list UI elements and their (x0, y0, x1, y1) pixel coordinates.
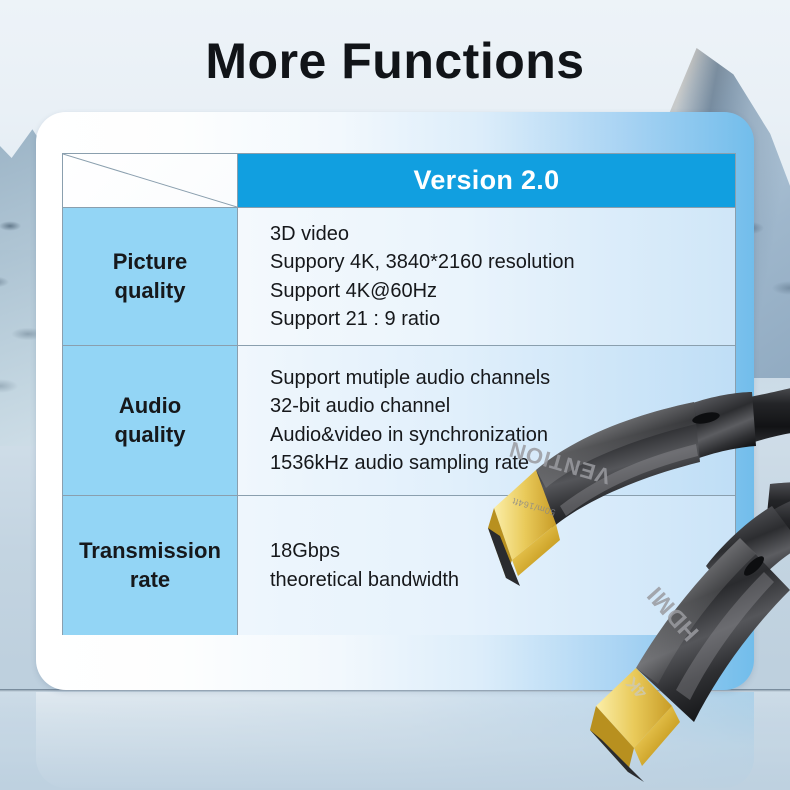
row-value-text: 3D video Suppory 4K, 3840*2160 resolutio… (270, 220, 575, 334)
row-label-picture-quality: Picture quality (63, 208, 238, 345)
table-header-row: Version 2.0 (63, 154, 735, 207)
row-label-text: Transmission rate (79, 537, 221, 593)
page-title: More Functions (0, 32, 790, 90)
table-row: Audio quality Support mutiple audio chan… (63, 345, 735, 495)
table-corner-cell (63, 154, 238, 207)
version-header-cell: Version 2.0 (238, 154, 735, 207)
table-row: Transmission rate 18Gbps theoretical ban… (63, 495, 735, 635)
spec-table: Version 2.0 Picture quality 3D video Sup… (62, 153, 736, 635)
row-value-picture-quality: 3D video Suppory 4K, 3840*2160 resolutio… (238, 208, 735, 345)
row-value-audio-quality: Support mutiple audio channels 32-bit au… (238, 346, 735, 495)
row-value-text: Support mutiple audio channels 32-bit au… (270, 364, 550, 478)
row-value-text: 18Gbps theoretical bandwidth (270, 537, 459, 594)
table-row: Picture quality 3D video Suppory 4K, 384… (63, 207, 735, 345)
diagonal-slash-icon (63, 154, 237, 207)
row-label-text: Picture quality (113, 248, 188, 304)
infographic-canvas: rate More Functions Version 2.0 Picture … (0, 0, 790, 790)
row-label-text: Audio quality (115, 392, 186, 448)
reflection-fade (0, 692, 790, 790)
row-value-transmission-rate: 18Gbps theoretical bandwidth (238, 496, 735, 635)
row-label-audio-quality: Audio quality (63, 346, 238, 495)
row-label-transmission-rate: Transmission rate (63, 496, 238, 635)
